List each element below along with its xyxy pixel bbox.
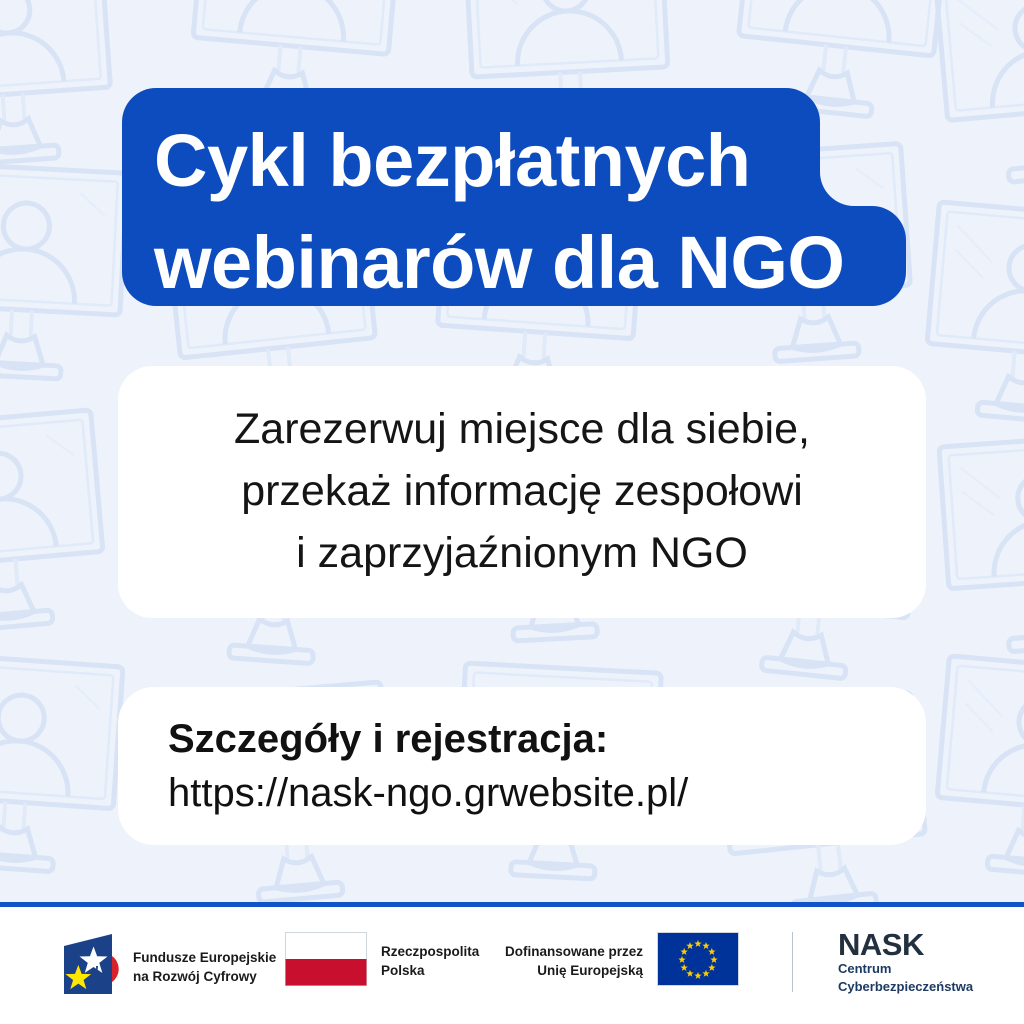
message-line-2: przekaż informację zespołowi <box>241 461 803 523</box>
fundusze-europejskie-icon <box>60 932 120 1003</box>
fe-line-2: na Rozwój Cyfrowy <box>133 969 257 984</box>
registration-url[interactable]: https://nask-ngo.grwebsite.pl/ <box>168 766 926 820</box>
logo-unia-europejska: Dofinansowane przez Unię Europejską <box>505 932 739 991</box>
registration-card: Szczegóły i rejestracja: https://nask-ng… <box>118 687 926 845</box>
footer-vertical-divider <box>792 932 793 992</box>
poland-flag-icon <box>285 932 367 991</box>
fe-line-1: Fundusze Europejskie <box>133 950 276 965</box>
title-banner-text: Cykl bezpłatnych webinarów dla NGO <box>122 88 906 306</box>
logo-rzeczpospolita-polska: Rzeczpospolita Polska <box>285 932 479 991</box>
nask-wordmark: NASK <box>838 929 973 960</box>
eu-line-2: Unię Europejską <box>537 963 643 978</box>
poster-root: Cykl bezpłatnych webinarów dla NGO Zarez… <box>0 0 1024 1024</box>
eu-flag-icon <box>657 932 739 991</box>
registration-heading: Szczegóły i rejestracja: <box>168 712 926 766</box>
title-banner: Cykl bezpłatnych webinarów dla NGO <box>122 88 906 306</box>
message-line-1: Zarezerwuj miejsce dla siebie, <box>234 399 810 461</box>
rzeczpospolita-caption: Rzeczpospolita Polska <box>381 943 479 979</box>
eu-line-1: Dofinansowane przez <box>505 944 643 959</box>
nask-subtitle: Centrum Cyberbezpieczeństwa <box>838 960 973 997</box>
title-line-1: Cykl bezpłatnych <box>154 110 876 212</box>
title-line-2: webinarów dla NGO <box>154 212 876 314</box>
pl-line-1: Rzeczpospolita <box>381 944 479 959</box>
footer-bar: Fundusze Europejskie na Rozwój Cyfrowy R… <box>0 907 1024 1024</box>
message-card: Zarezerwuj miejsce dla siebie, przekaż i… <box>118 366 926 618</box>
nask-sub-line-1: Centrum <box>838 960 973 978</box>
fundusze-europejskie-caption: Fundusze Europejskie na Rozwój Cyfrowy <box>133 949 276 985</box>
logo-fundusze-europejskie: Fundusze Europejskie na Rozwój Cyfrowy <box>60 932 276 1003</box>
nask-sub-line-2: Cyberbezpieczeństwa <box>838 978 973 996</box>
logo-nask: NASK Centrum Cyberbezpieczeństwa <box>838 929 973 997</box>
pl-line-2: Polska <box>381 963 425 978</box>
unia-europejska-caption: Dofinansowane przez Unię Europejską <box>505 943 643 979</box>
message-line-3: i zaprzyjaźnionym NGO <box>296 523 748 585</box>
